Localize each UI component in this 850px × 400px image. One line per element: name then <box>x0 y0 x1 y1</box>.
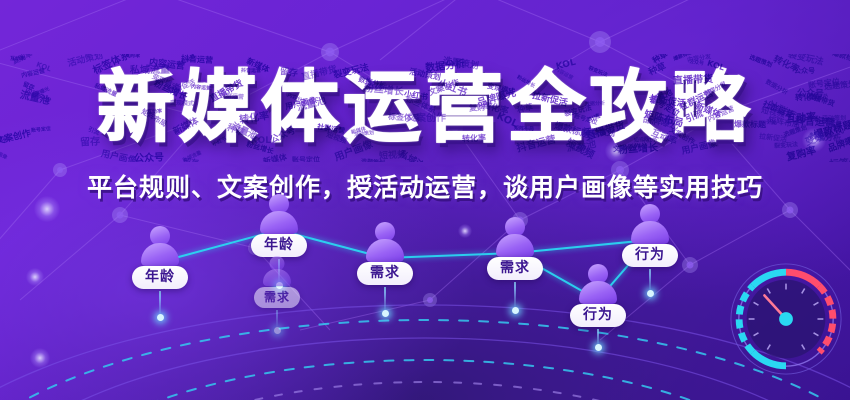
node-stem <box>514 282 516 310</box>
node-label-badge[interactable]: 行为 <box>570 304 626 327</box>
person-icon <box>630 204 670 244</box>
node-label-badge[interactable]: 需求 <box>487 257 543 280</box>
node-label-badge[interactable]: 行为 <box>622 244 678 267</box>
person-icon <box>495 217 535 257</box>
person-icon <box>578 264 618 304</box>
node-label-badge[interactable]: 需求 <box>357 262 413 285</box>
person-body <box>579 281 617 304</box>
person-icon <box>365 222 405 262</box>
node-stem-dot <box>595 344 602 351</box>
persona-node-行为[interactable]: 行为 <box>570 264 626 351</box>
node-stem-dot <box>512 307 519 314</box>
node-label-badge[interactable]: 需求 <box>254 287 300 308</box>
node-stem-dot <box>647 290 654 297</box>
node-stem-dot <box>273 327 280 334</box>
person-body <box>263 269 291 286</box>
node-label-badge[interactable]: 年龄 <box>251 234 307 257</box>
promo-banner: 新媒体运营全攻略 内容运营新媒体粉丝增长爆款标题流量池用户画像短视频文案创作转化… <box>0 0 850 400</box>
node-stem-dot <box>382 310 389 317</box>
persona-node-行为[interactable]: 行为 <box>622 204 678 297</box>
person-body <box>631 221 669 244</box>
persona-node-需求[interactable]: 需求 <box>254 256 300 334</box>
node-label-badge[interactable]: 年龄 <box>132 266 188 289</box>
person-icon <box>140 226 180 266</box>
person-body <box>366 239 404 262</box>
persona-node-需求[interactable]: 需求 <box>357 222 413 317</box>
persona-node-需求[interactable]: 需求 <box>487 217 543 314</box>
person-body <box>260 211 298 234</box>
node-stem-dot <box>157 314 164 321</box>
person-icon <box>262 256 292 286</box>
person-body <box>141 243 179 266</box>
network-nodes: 年龄年龄需求需求需求行为行为 <box>0 0 850 400</box>
person-icon <box>259 194 299 234</box>
person-body <box>496 234 534 257</box>
persona-node-年龄[interactable]: 年龄 <box>132 226 188 321</box>
